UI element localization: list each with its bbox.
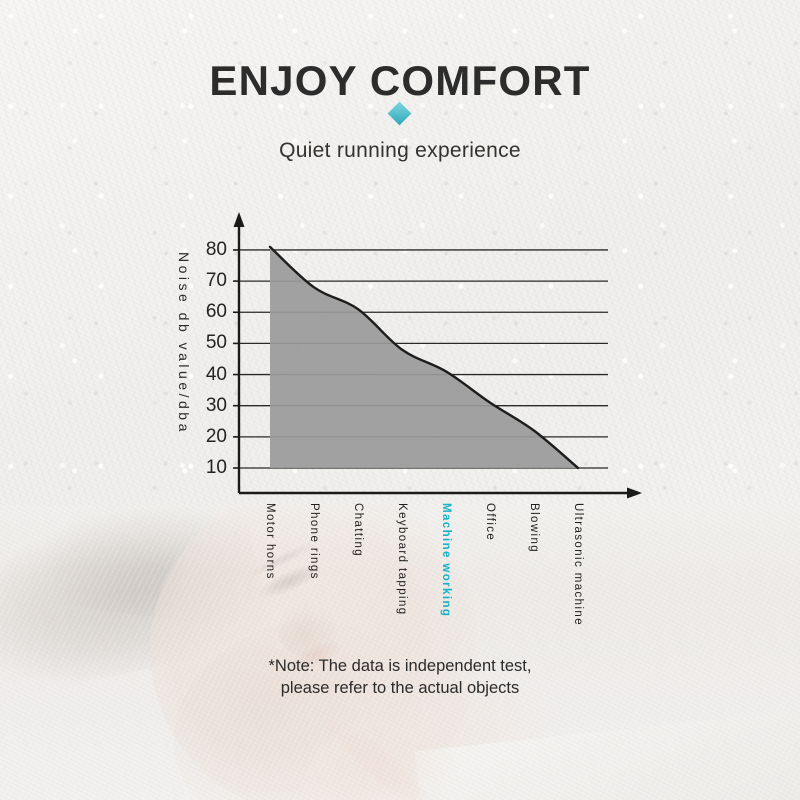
area-fill [270, 247, 578, 468]
x-axis-label-machine-working: Machine working [440, 503, 452, 617]
x-axis-label-ultrasonic-machine: Ultrasonic machine [572, 503, 584, 626]
y-axis-tick-label: 10 [193, 457, 227, 479]
y-axis-tick-label: 50 [193, 332, 227, 354]
x-axis-label-office: Office [484, 503, 496, 541]
y-axis-tick-label: 70 [193, 270, 227, 292]
y-axis-title: Noise db value/dba [176, 252, 192, 435]
x-axis-label-chatting: Chatting [352, 503, 364, 557]
y-axis-arrow [234, 212, 245, 227]
y-axis-tick-label: 80 [193, 239, 227, 261]
x-axis-label-keyboard-tapping: Keyboard tapping [396, 503, 408, 616]
y-axis-tick-label: 40 [193, 364, 227, 386]
note-line-2: please refer to the actual objects [0, 677, 800, 699]
y-axis-tick-label: 30 [193, 395, 227, 417]
y-axis-tick-label: 60 [193, 301, 227, 323]
note-line-1: *Note: The data is independent test, [0, 655, 800, 677]
x-axis-label-phone-rings: Phone rings [308, 503, 320, 580]
note-text: *Note: The data is independent test, ple… [0, 655, 800, 699]
x-axis-arrow [627, 488, 642, 499]
x-axis-label-motor-horns: Motor horns [264, 503, 276, 580]
y-axis-tick-label: 20 [193, 426, 227, 448]
x-axis-label-blowing: Blowing [528, 503, 540, 553]
